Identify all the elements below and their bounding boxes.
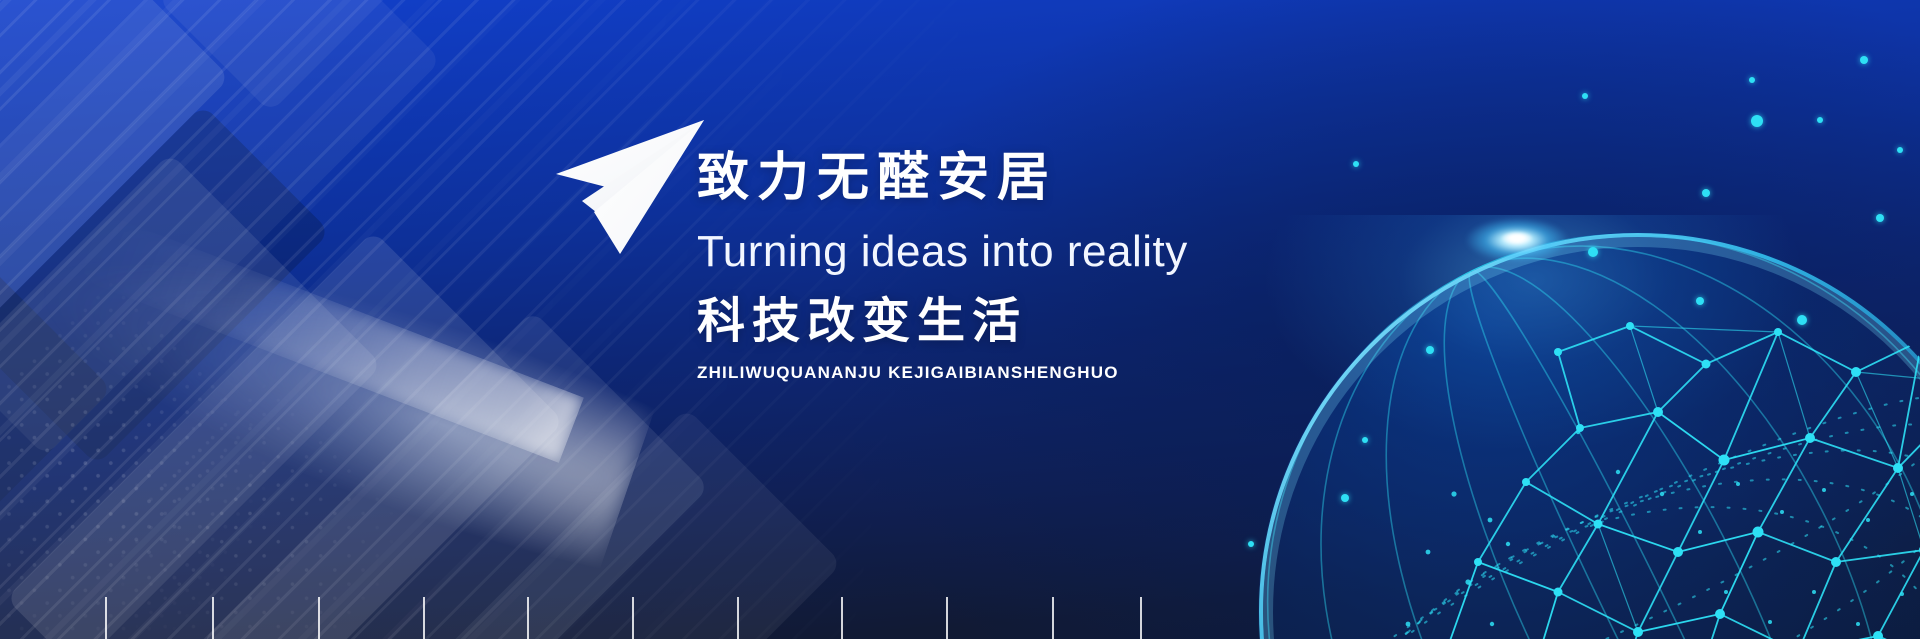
sparkle-dot	[1797, 315, 1807, 325]
sparkle-dot	[1353, 161, 1359, 167]
sparkle-dot	[1751, 115, 1763, 127]
sparkle-dot	[1897, 147, 1903, 153]
sparkle-dot	[1248, 541, 1254, 547]
tick-mark	[1052, 597, 1054, 639]
sparkle-dot	[1426, 346, 1434, 354]
subheadline-chinese: 科技改变生活	[697, 298, 1337, 346]
sparkle-dot	[1588, 247, 1598, 257]
sparkle-dot	[1860, 56, 1868, 64]
headline-chinese: 致力无醛安居	[697, 152, 1337, 204]
tagline-english: Turning ideas into reality	[697, 230, 1337, 274]
sparkle-dot	[1749, 77, 1755, 83]
hero-banner: 致力无醛安居 Turning ideas into reality 科技改变生活…	[0, 0, 1920, 639]
tick-mark	[105, 597, 107, 639]
tick-mark	[423, 597, 425, 639]
wireframe-globe-icon	[1258, 232, 1920, 639]
sparkle-dot	[1876, 214, 1884, 222]
tick-mark	[1140, 597, 1142, 639]
tick-mark	[527, 597, 529, 639]
pinyin-caption: ZHILIWUQUANANJU KEJIGAIBIANSHENGHUO	[697, 364, 1337, 381]
sparkle-dot	[1362, 437, 1368, 443]
tick-mark	[632, 597, 634, 639]
lens-flare-core-icon	[1496, 229, 1538, 247]
sparkle-dot	[1582, 93, 1588, 99]
sparkle-dot	[1702, 189, 1710, 197]
tick-mark	[737, 597, 739, 639]
hero-text-block: 致力无醛安居 Turning ideas into reality 科技改变生活…	[697, 152, 1337, 381]
paper-plane-icon	[548, 108, 708, 260]
tick-mark	[841, 597, 843, 639]
sparkle-dot	[1341, 494, 1349, 502]
sparkle-dot	[1696, 297, 1704, 305]
tick-mark	[946, 597, 948, 639]
tick-mark	[318, 597, 320, 639]
tick-mark	[212, 597, 214, 639]
sparkle-dot	[1817, 117, 1823, 123]
